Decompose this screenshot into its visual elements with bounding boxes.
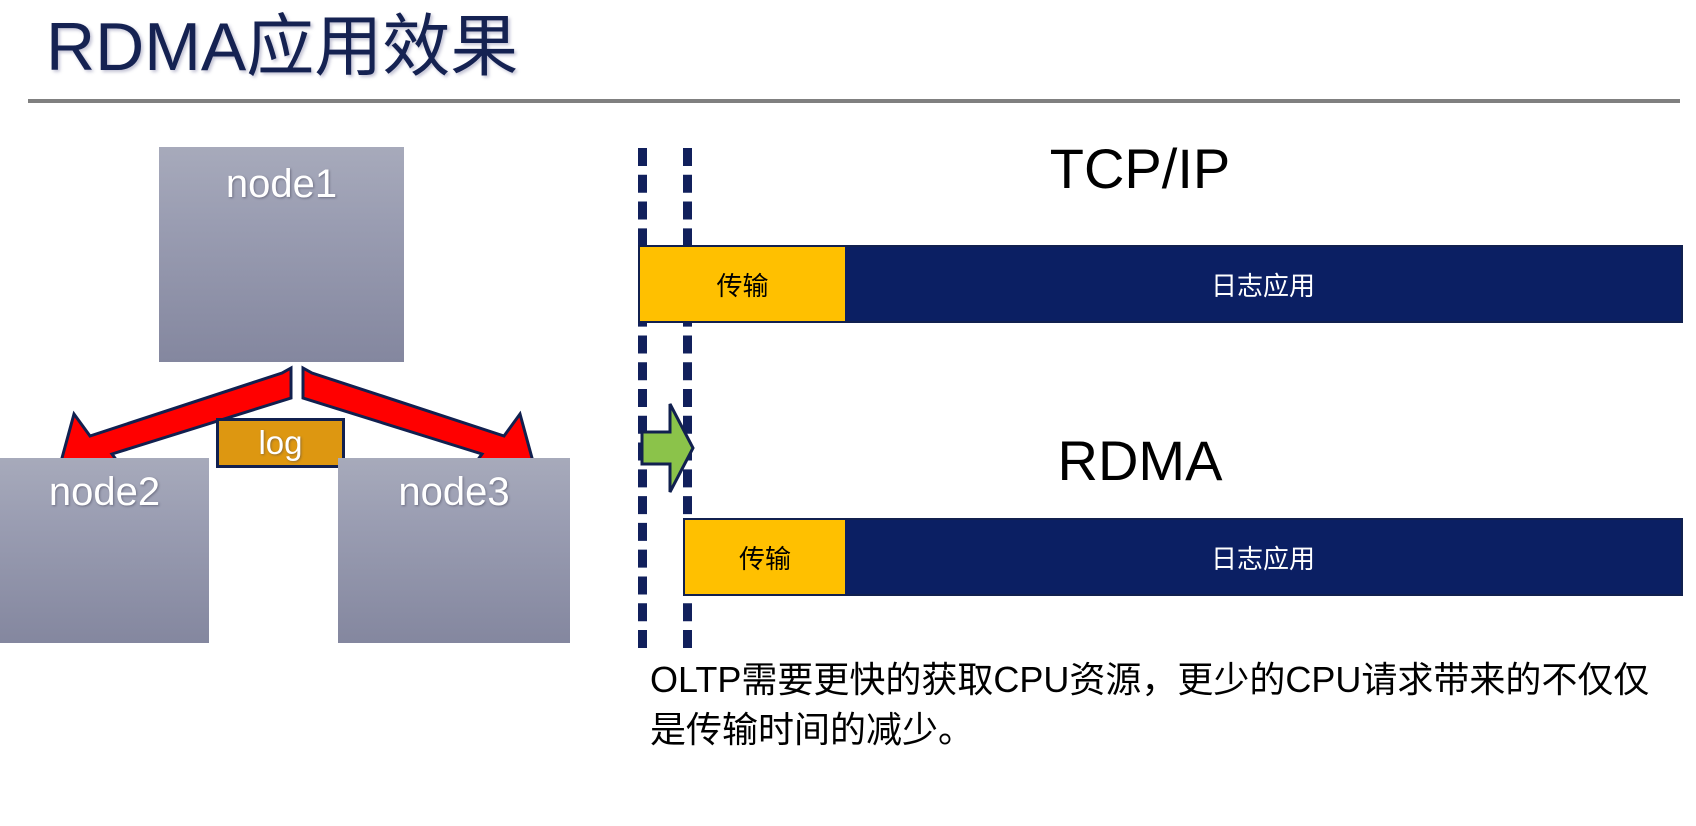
segment-log-application-tcp: 日志应用 <box>845 247 1681 321</box>
timeline-bar-rdma: 传输 日志应用 <box>683 518 1683 596</box>
node-box-node1: node1 <box>159 147 404 362</box>
protocol-label-rdma: RDMA <box>830 428 1450 493</box>
node-box-node3: node3 <box>338 458 570 643</box>
title-divider <box>28 99 1680 103</box>
log-box: log <box>216 418 345 468</box>
node2-label: node2 <box>49 470 160 514</box>
log-label: log <box>258 424 302 461</box>
timeline-bar-tcp: 传输 日志应用 <box>638 245 1683 323</box>
node1-label: node1 <box>226 162 337 206</box>
node3-label: node3 <box>398 470 509 514</box>
green-right-arrow-icon <box>636 398 696 498</box>
caption-text: OLTP需要更快的获取CPU资源，更少的CPU请求带来的不仅仅是传输时间的减少。 <box>650 655 1670 755</box>
segment-transfer-rdma: 传输 <box>685 520 845 594</box>
page-title: RDMA应用效果 <box>46 2 518 92</box>
slide-canvas: RDMA应用效果 node1 log node2 node3 TCP/IP 传输… <box>0 0 1696 826</box>
protocol-label-tcp: TCP/IP <box>830 136 1450 201</box>
segment-transfer-tcp: 传输 <box>640 247 845 321</box>
node-box-node2: node2 <box>0 458 209 643</box>
segment-log-application-rdma: 日志应用 <box>845 520 1681 594</box>
